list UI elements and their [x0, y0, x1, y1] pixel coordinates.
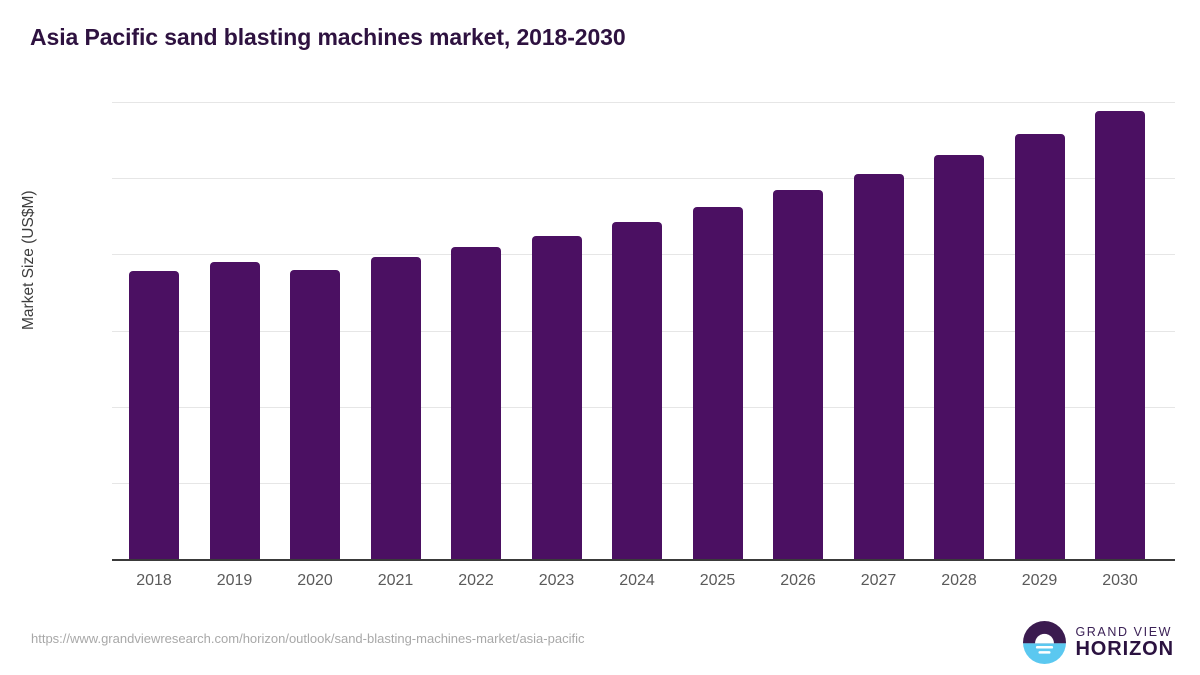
source-url[interactable]: https://www.grandviewresearch.com/horizo… [31, 631, 584, 646]
bar-2029[interactable] [1015, 134, 1065, 559]
page-title: Asia Pacific sand blasting machines mark… [30, 24, 626, 51]
y-tick-mark-250 [112, 178, 129, 179]
plot-area: 050100150200250300 201820192020202120222… [129, 102, 1175, 559]
gridline-300 [129, 102, 1175, 103]
bar-2030[interactable] [1095, 111, 1145, 559]
bar-2026[interactable] [773, 190, 823, 559]
x-tick-label-2021: 2021 [371, 572, 421, 590]
x-tick-label-2026: 2026 [773, 572, 823, 590]
bar-2021[interactable] [371, 257, 421, 559]
brand-logo[interactable]: GRAND VIEW HORIZON [1023, 620, 1174, 665]
x-tick-label-2020: 2020 [290, 572, 340, 590]
y-tick-mark-300 [112, 102, 129, 103]
x-tick-label-2023: 2023 [532, 572, 582, 590]
bar-2020[interactable] [290, 270, 340, 559]
x-tick-label-2022: 2022 [451, 572, 501, 590]
bar-2023[interactable] [532, 236, 582, 559]
horizon-sun-circle-icon [1023, 621, 1066, 664]
x-tick-label-2028: 2028 [934, 572, 984, 590]
x-tick-label-2025: 2025 [693, 572, 743, 590]
chart-page: Asia Pacific sand blasting machines mark… [0, 0, 1200, 675]
bar-2028[interactable] [934, 155, 984, 559]
y-tick-mark-50 [112, 483, 129, 484]
x-tick-label-2027: 2027 [854, 572, 904, 590]
x-tick-label-2030: 2030 [1095, 572, 1145, 590]
y-tick-mark-200 [112, 254, 129, 255]
logo-line-1: GRAND VIEW [1075, 625, 1174, 639]
logo-line-2: HORIZON [1075, 639, 1174, 660]
x-tick-label-2024: 2024 [612, 572, 662, 590]
gridline-0 [112, 559, 1175, 561]
logo-wordmark: GRAND VIEW HORIZON [1075, 625, 1174, 660]
bar-2025[interactable] [693, 207, 743, 559]
bar-2018[interactable] [129, 271, 179, 559]
bar-2022[interactable] [451, 247, 501, 559]
x-tick-label-2018: 2018 [129, 572, 179, 590]
y-tick-mark-150 [112, 331, 129, 332]
bar-2027[interactable] [854, 174, 904, 559]
x-tick-label-2019: 2019 [210, 572, 260, 590]
bar-2024[interactable] [612, 222, 662, 559]
y-axis-title: Market Size (US$M) [20, 190, 38, 330]
y-tick-mark-100 [112, 407, 129, 408]
bar-2019[interactable] [210, 262, 260, 559]
x-tick-label-2029: 2029 [1015, 572, 1065, 590]
